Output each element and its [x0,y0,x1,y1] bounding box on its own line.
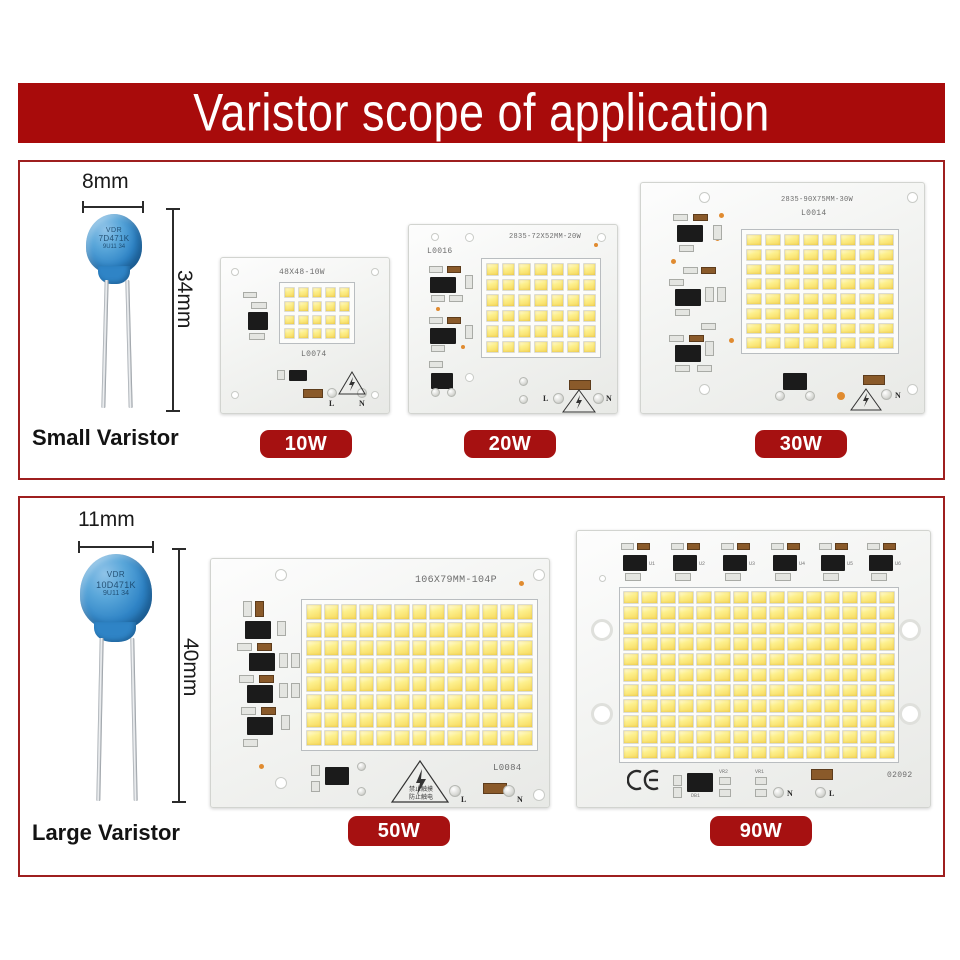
led [502,310,515,323]
smd-resistor [683,267,698,274]
led [325,287,336,298]
smd-resistor [871,573,887,581]
led [482,694,498,710]
led [751,622,767,635]
mounting-hole [699,384,710,395]
led [787,715,803,728]
smd-resistor [721,543,734,550]
led [714,606,730,619]
led [787,622,803,635]
led-board-20w: 2835-72X52MM-20W L0016 [408,224,618,414]
large-varistor-figure: 11mm VDR 10D471K 9U11 34 40mm Large Vari… [20,498,240,876]
led [660,606,676,619]
led-array-50w [301,599,538,751]
smd-diode [637,543,650,550]
led [502,341,515,354]
led [429,712,445,728]
led [751,730,767,743]
fuse [303,389,323,398]
led [878,308,894,320]
panel-small-varistor: 8mm VDR 7D471K 9U11 34 34mm Small Varist… [18,160,945,480]
led [359,640,375,656]
led [284,287,295,298]
led [824,653,840,666]
smd-capacitor [673,775,682,786]
led [842,684,858,697]
led [447,658,463,674]
led [733,668,749,681]
led [486,310,499,323]
smd-diode [447,317,461,324]
led [359,622,375,638]
led [376,640,392,656]
led [660,622,676,635]
led [567,325,580,338]
led [714,715,730,728]
led [500,658,516,674]
led [465,622,481,638]
led [840,323,856,335]
led [840,308,856,320]
led [696,684,712,697]
led [306,604,322,620]
led [784,234,800,246]
led [806,653,822,666]
led [840,249,856,261]
test-point [594,243,598,247]
led [824,699,840,712]
led [822,308,838,320]
led [765,293,781,305]
large-varistor-name: Large Varistor [32,820,180,846]
led [623,684,639,697]
led [878,323,894,335]
led [678,746,694,759]
led [787,730,803,743]
led [486,294,499,307]
led [412,712,428,728]
led [502,263,515,276]
smd-diode [257,643,272,651]
led [859,264,875,276]
led [696,668,712,681]
led [714,622,730,635]
led [806,699,822,712]
led [359,712,375,728]
led [860,637,876,650]
led [412,622,428,638]
led [324,694,340,710]
led [324,676,340,692]
driver-ic [623,555,647,571]
led [500,676,516,692]
led [822,323,838,335]
smd-resistor [465,325,473,339]
led [551,279,564,292]
led [806,730,822,743]
led [784,264,800,276]
board-batch-30w: L0014 [801,209,827,218]
led [765,249,781,261]
mounting-hole [533,789,545,801]
fuse [863,375,885,385]
driver-ic [245,621,271,639]
led [517,640,533,656]
mounting-hole [371,268,379,276]
power-badge-10w: 10W [260,430,352,458]
led [824,715,840,728]
led [842,637,858,650]
led [746,249,762,261]
led [518,310,531,323]
solder-pad [519,377,528,386]
smd-resistor [431,295,445,302]
smd-diode [883,543,896,550]
smd-diode [689,335,704,342]
led [787,746,803,759]
terminal-label-l: L [829,789,834,798]
led [787,668,803,681]
led [500,640,516,656]
led [678,622,694,635]
led [806,668,822,681]
led [583,310,596,323]
led [765,234,781,246]
led [803,323,819,335]
led [824,684,840,697]
led [714,699,730,712]
bridge-rectifier [431,373,453,389]
led [840,234,856,246]
led [641,591,657,604]
led [567,341,580,354]
terminal-label-l: L [543,394,548,403]
led [842,622,858,635]
led [518,294,531,307]
smd-resistor [697,365,712,372]
led [806,591,822,604]
led [623,699,639,712]
led [842,699,858,712]
led [696,591,712,604]
led [359,676,375,692]
led [860,715,876,728]
led [859,337,875,349]
led [284,301,295,312]
led [339,287,350,298]
smd-resistor [669,279,684,286]
smd-resistor [673,214,688,221]
led [859,323,875,335]
led [298,315,309,326]
power-badge-30w: 30W [755,430,847,458]
led [859,234,875,246]
led [298,328,309,339]
led [567,294,580,307]
led [412,604,428,620]
driver-ic [248,312,268,330]
driver-ic [821,555,845,571]
led [746,308,762,320]
terminal-label-n: N [359,399,365,408]
led [769,637,785,650]
led [822,278,838,290]
led [502,294,515,307]
led [534,279,547,292]
led [714,591,730,604]
smd-resistor [281,715,290,730]
led [879,637,895,650]
led [641,746,657,759]
led [341,604,357,620]
led [784,308,800,320]
led [502,325,515,338]
led [769,730,785,743]
led [518,325,531,338]
led [502,279,515,292]
led [878,249,894,261]
smd-resistor [819,543,832,550]
bridge-rectifier [687,773,713,792]
led [306,622,322,638]
led [787,699,803,712]
led [324,604,340,620]
smd-resistor [675,365,690,372]
terminal-pad-n [773,787,784,798]
terminal-label-n: N [606,394,612,403]
led [551,325,564,338]
led [324,730,340,746]
led [660,668,676,681]
led [465,730,481,746]
led [840,278,856,290]
led [879,668,895,681]
board-batch-20w: L0016 [427,247,453,256]
driver-ic [675,345,701,362]
mounting-hole [465,233,474,242]
led [769,684,785,697]
led [376,658,392,674]
bridge-rectifier [325,767,349,785]
led [412,676,428,692]
led [678,653,694,666]
varistor-lead-left [101,280,108,408]
driver-ic [673,555,697,571]
led [298,301,309,312]
smd-diode [693,214,708,221]
led [325,328,336,339]
led [376,676,392,692]
led [500,730,516,746]
small-varistor-height-label: 34mm [172,270,196,328]
led [733,746,749,759]
led [842,715,858,728]
led [641,668,657,681]
varistor-disc-body: VDR 10D471K 9U11 34 [80,554,152,630]
solder-pad [357,762,366,771]
led [824,606,840,619]
solder-pad [519,395,528,404]
led [860,746,876,759]
led [583,279,596,292]
led [879,606,895,619]
led [733,637,749,650]
led [879,591,895,604]
smd-resistor [725,573,741,581]
led [482,730,498,746]
led [806,684,822,697]
led [733,730,749,743]
led [359,604,375,620]
led-board-90w: 02092 U1 U2 U3 U4 U5 U6 [576,530,931,808]
varistor-footprint [719,789,731,797]
solder-pad [357,787,366,796]
led [860,699,876,712]
led [787,653,803,666]
led [879,684,895,697]
led [859,278,875,290]
led [696,622,712,635]
ic-ref-u2: U2 [699,561,705,567]
smd-resistor [243,292,257,298]
led [534,294,547,307]
led [324,622,340,638]
smd-resistor [621,543,634,550]
test-point [837,392,845,400]
terminal-pad-l [327,388,337,398]
led [376,712,392,728]
led [567,279,580,292]
led [306,676,322,692]
smd-diode [447,266,461,273]
mounting-hole [431,233,439,241]
led [312,287,323,298]
driver-ic [773,555,797,571]
terminal-label-n: N [787,789,793,798]
led [465,676,481,692]
title-banner: Varistor scope of application [18,83,945,143]
driver-ic [869,555,893,571]
led [583,341,596,354]
led [696,715,712,728]
led-board-50w: 106X79MM-104P L0084 [210,558,550,808]
led [879,653,895,666]
terminal-pad-l [449,785,461,797]
led [447,622,463,638]
smd-resistor [625,573,641,581]
led [806,637,822,650]
led [412,640,428,656]
smd-resistor [705,287,714,302]
test-point [719,213,724,218]
led [840,337,856,349]
led [482,712,498,728]
led [660,591,676,604]
large-varistor-width-dimension [78,546,154,548]
led [486,325,499,338]
led [376,730,392,746]
led [339,315,350,326]
led [765,308,781,320]
led [787,637,803,650]
smd-resistor [669,335,684,342]
smd-resistor [701,323,716,330]
test-point [461,345,465,349]
ic-ref-u4: U4 [799,561,805,567]
led [878,293,894,305]
led [822,249,838,261]
smd-resistor [239,675,254,683]
led [803,293,819,305]
test-point [729,338,734,343]
mounting-hole [275,569,287,581]
mounting-hole [591,619,613,641]
led [714,653,730,666]
led [840,264,856,276]
led [312,328,323,339]
led [394,712,410,728]
led [714,684,730,697]
led [859,293,875,305]
mounting-hole [599,575,606,582]
led [394,658,410,674]
led [447,712,463,728]
led [784,249,800,261]
led [784,278,800,290]
mounting-hole [899,703,921,725]
led-board-30w: 2835-90X75MM-30W L0014 [640,182,925,414]
led [486,279,499,292]
led [482,604,498,620]
led [306,730,322,746]
board-code-20w: 2835-72X52MM-20W [509,233,581,241]
led [879,730,895,743]
smd-resistor [771,543,784,550]
led [879,746,895,759]
led [803,308,819,320]
led [465,604,481,620]
terminal-label-l: L [329,399,334,408]
small-varistor-width-dimension [82,206,144,208]
smd-diode [737,543,750,550]
solder-pad [447,388,456,397]
ic-ref-u5: U5 [847,561,853,567]
led [623,730,639,743]
driver-ic [249,653,275,671]
led [551,263,564,276]
led [324,658,340,674]
led [517,694,533,710]
led [500,622,516,638]
led [623,668,639,681]
varistor-disc-body: VDR 7D471K 9U11 34 [86,214,142,274]
led [769,668,785,681]
led [746,337,762,349]
led [341,694,357,710]
led [824,730,840,743]
led [824,668,840,681]
led [517,658,533,674]
led [623,622,639,635]
led [306,694,322,710]
led [803,264,819,276]
smd-diode [701,267,716,274]
led [486,263,499,276]
small-varistor-width-label: 8mm [82,170,129,194]
power-badge-90w: 90W [710,816,812,846]
led [678,637,694,650]
smd-resistor [679,245,694,252]
